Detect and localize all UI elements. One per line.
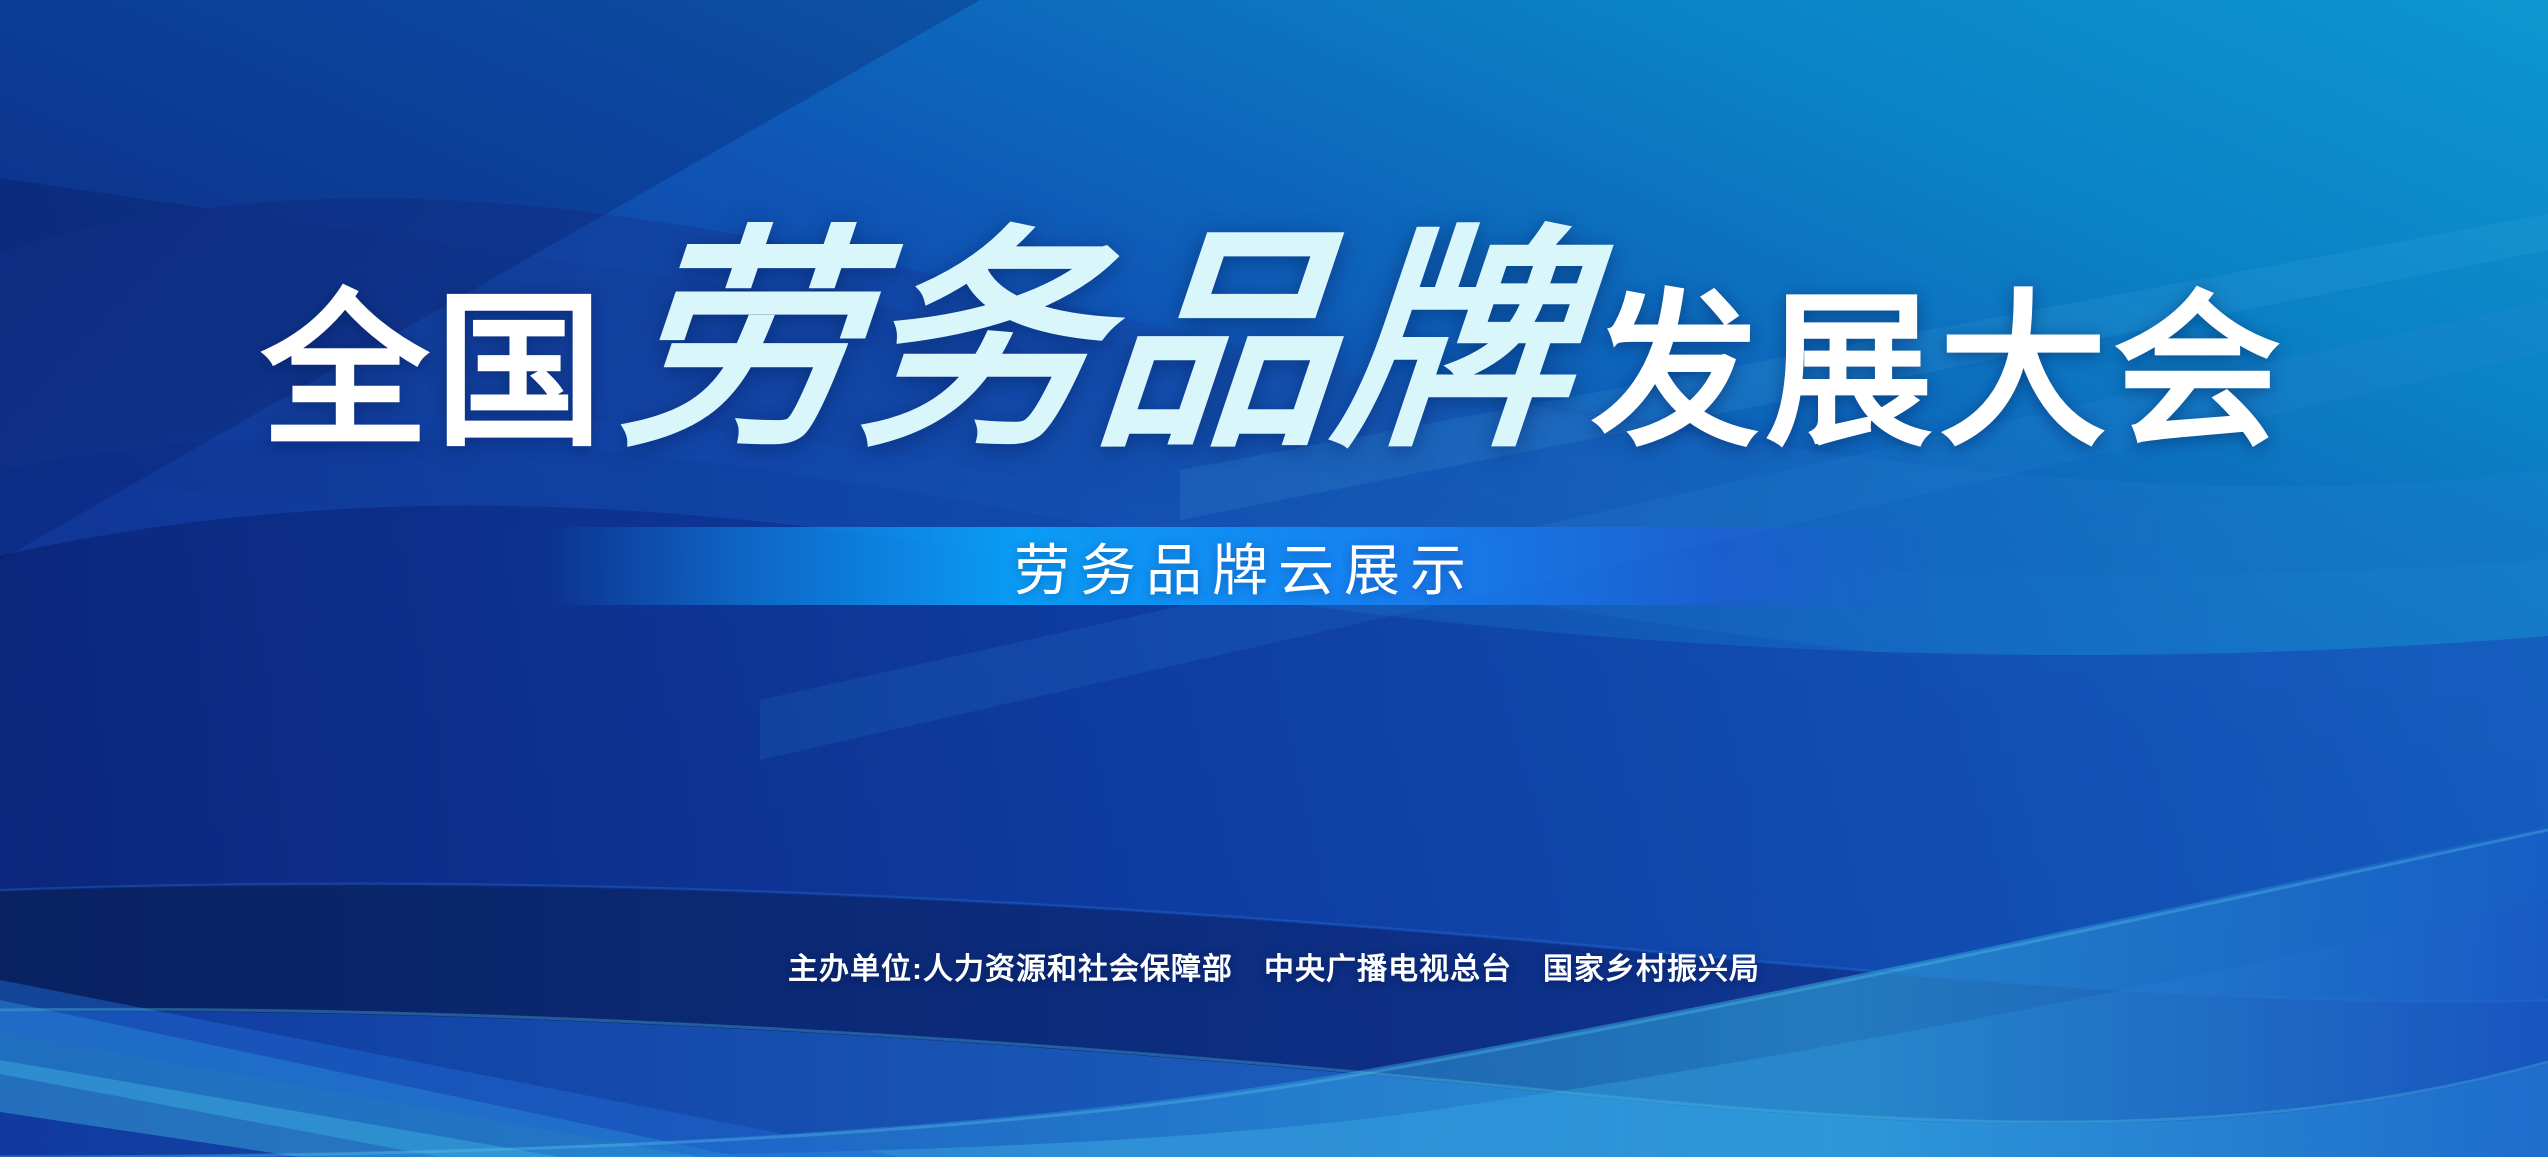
main-title: 全国 劳务品牌 发展大会 <box>0 252 2548 492</box>
title-segment-right: 发展大会 <box>1591 288 2287 456</box>
title-segment-brush: 劳务品牌 <box>613 228 1586 464</box>
subtitle-band: 劳务品牌云展示 <box>545 527 1945 605</box>
poster-canvas: 全国 劳务品牌 发展大会 劳务品牌云展示 主办单位:人力资源和社会保障部 中央广… <box>0 0 2548 1157</box>
title-segment-left: 全国 <box>261 288 609 456</box>
organizers-footer: 主办单位:人力资源和社会保障部 中央广播电视总台 国家乡村振兴局 <box>0 944 2548 988</box>
subtitle-text: 劳务品牌云展示 <box>545 527 1945 605</box>
